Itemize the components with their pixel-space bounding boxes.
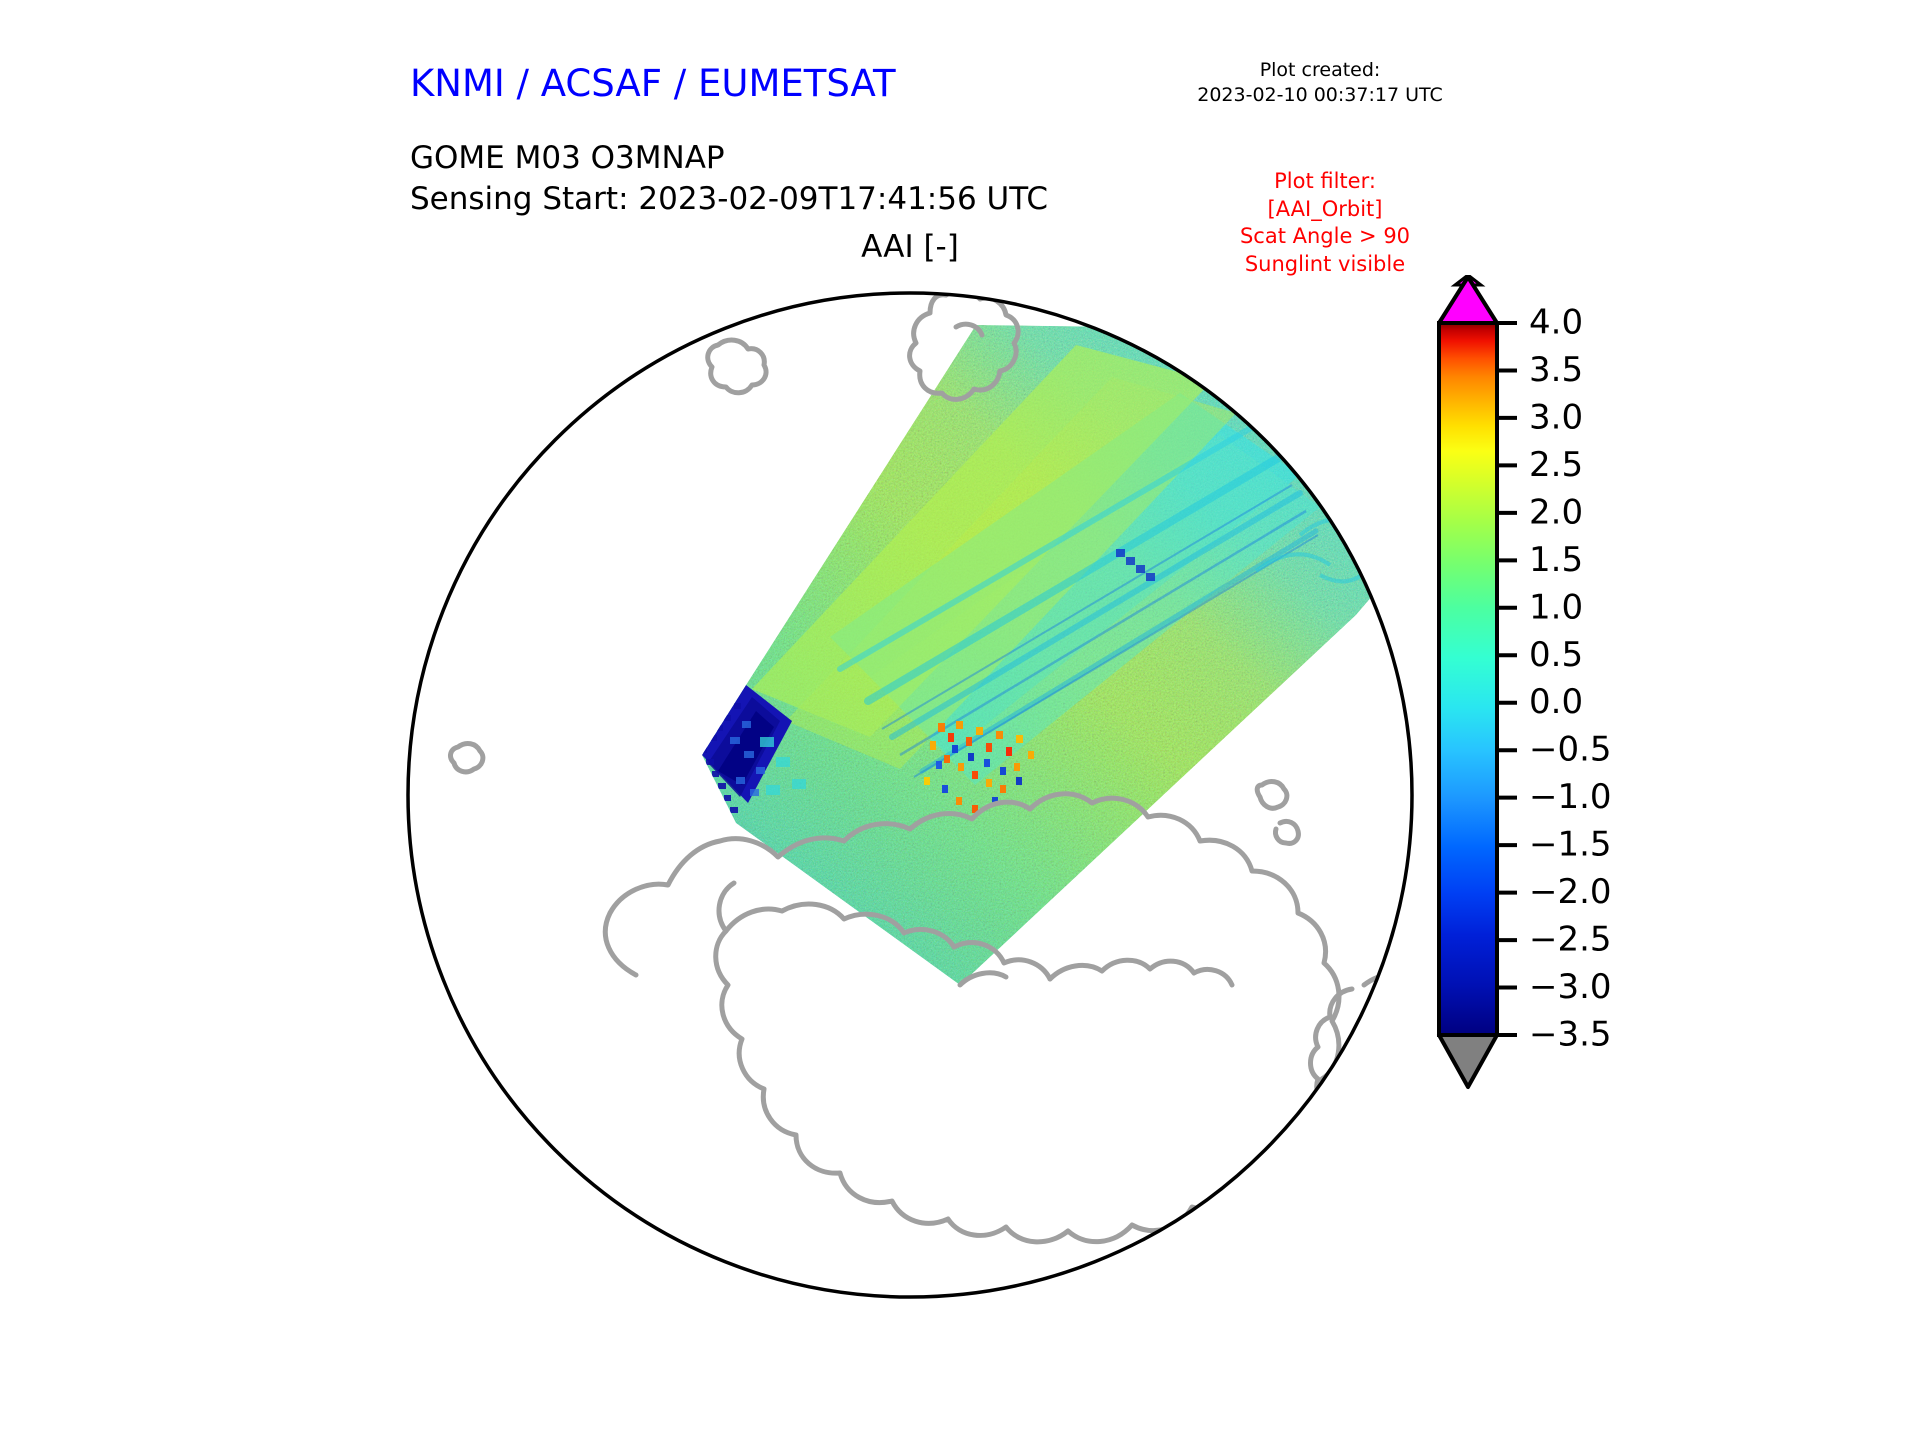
colorbar-tick-label: −0.5 <box>1529 730 1612 770</box>
plot-created-value: 2023-02-10 00:37:17 UTC <box>1155 83 1485 108</box>
product-name: GOME M03 O3MNAP <box>410 138 1048 179</box>
colorbar-under-triangle <box>1439 1035 1497 1087</box>
product-info-block: GOME M03 O3MNAP Sensing Start: 2023-02-0… <box>410 138 1048 220</box>
colorbar-tick-label: 1.0 <box>1529 587 1583 627</box>
variable-label: AAI [-] <box>760 229 1060 265</box>
colorbar-tick-label: −3.0 <box>1529 967 1612 1007</box>
plot-filter-sunglint: Sunglint visible <box>1180 251 1470 279</box>
colorbar-tick-label: 0.0 <box>1529 682 1583 722</box>
colorbar-tick-label: −3.5 <box>1529 1015 1612 1055</box>
organisation-title: KNMI / ACSAF / EUMETSAT <box>410 62 896 105</box>
plot-filter-label: Plot filter: <box>1180 168 1470 196</box>
plot-page: KNMI / ACSAF / EUMETSAT Plot created: 20… <box>0 0 1920 1440</box>
colorbar-tick-label: 0.5 <box>1529 635 1583 675</box>
colorbar-tick-label: −2.0 <box>1529 872 1612 912</box>
colorbar-tick-label: 4.0 <box>1529 303 1583 343</box>
colorbar-tick-label: 2.5 <box>1529 445 1583 485</box>
colorbar-tick-label: 3.5 <box>1529 350 1583 390</box>
colorbar-tick-label: −1.5 <box>1529 825 1612 865</box>
polar-map <box>400 285 1420 1305</box>
colorbar-gradient <box>1439 323 1497 1035</box>
plot-filter-block: Plot filter: [AAI_Orbit] Scat Angle > 90… <box>1180 168 1470 278</box>
colorbar-canvas: 4.03.53.02.52.01.51.00.50.0−0.5−1.0−1.5−… <box>1425 275 1725 1105</box>
colorbar-tick-label: 3.0 <box>1529 397 1583 437</box>
sensing-start: Sensing Start: 2023-02-09T17:41:56 UTC <box>410 179 1048 220</box>
colorbar-tick-label: 2.0 <box>1529 492 1583 532</box>
colorbar: 4.03.53.02.52.01.51.00.50.0−0.5−1.0−1.5−… <box>1425 275 1725 1105</box>
plot-created-block: Plot created: 2023-02-10 00:37:17 UTC <box>1155 58 1485 109</box>
colorbar-tick-label: 1.5 <box>1529 540 1583 580</box>
colorbar-ticks: 4.03.53.02.52.01.51.00.50.0−0.5−1.0−1.5−… <box>1497 303 1612 1055</box>
plot-filter-name: [AAI_Orbit] <box>1180 196 1470 224</box>
colorbar-tick-label: −1.0 <box>1529 777 1612 817</box>
plot-created-label: Plot created: <box>1155 58 1485 83</box>
plot-filter-scat-angle: Scat Angle > 90 <box>1180 223 1470 251</box>
colorbar-tick-label: −2.5 <box>1529 920 1612 960</box>
map-canvas <box>400 285 1420 1305</box>
colorbar-over-triangle <box>1439 277 1497 323</box>
